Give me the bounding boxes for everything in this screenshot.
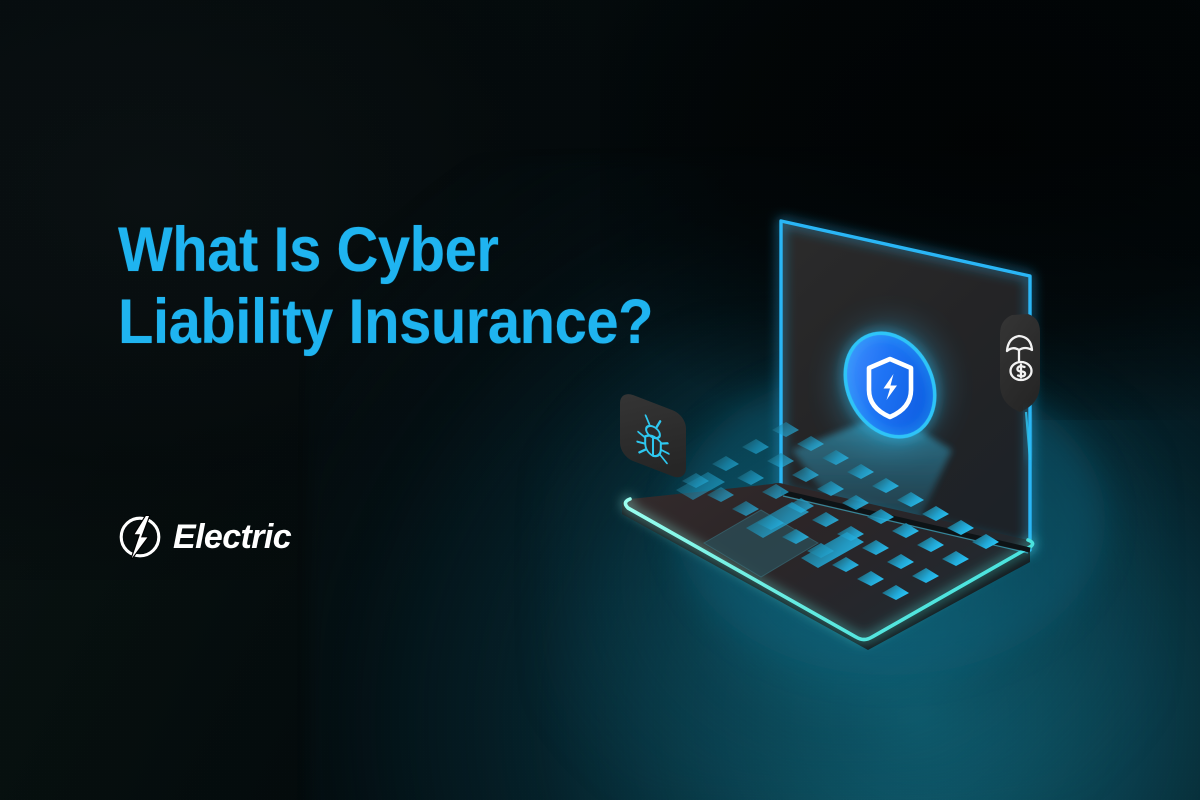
lightning-bolt-in-circle-icon: [118, 515, 162, 559]
brand-logo: Electric: [118, 515, 291, 559]
bug-badge: [620, 390, 686, 481]
isometric-laptop-illustration: [560, 150, 1120, 710]
laptop-svg: [560, 150, 1120, 710]
hero-graphic: What Is Cyber Liability Insurance? Elect…: [0, 0, 1200, 800]
brand-name: Electric: [173, 518, 291, 557]
